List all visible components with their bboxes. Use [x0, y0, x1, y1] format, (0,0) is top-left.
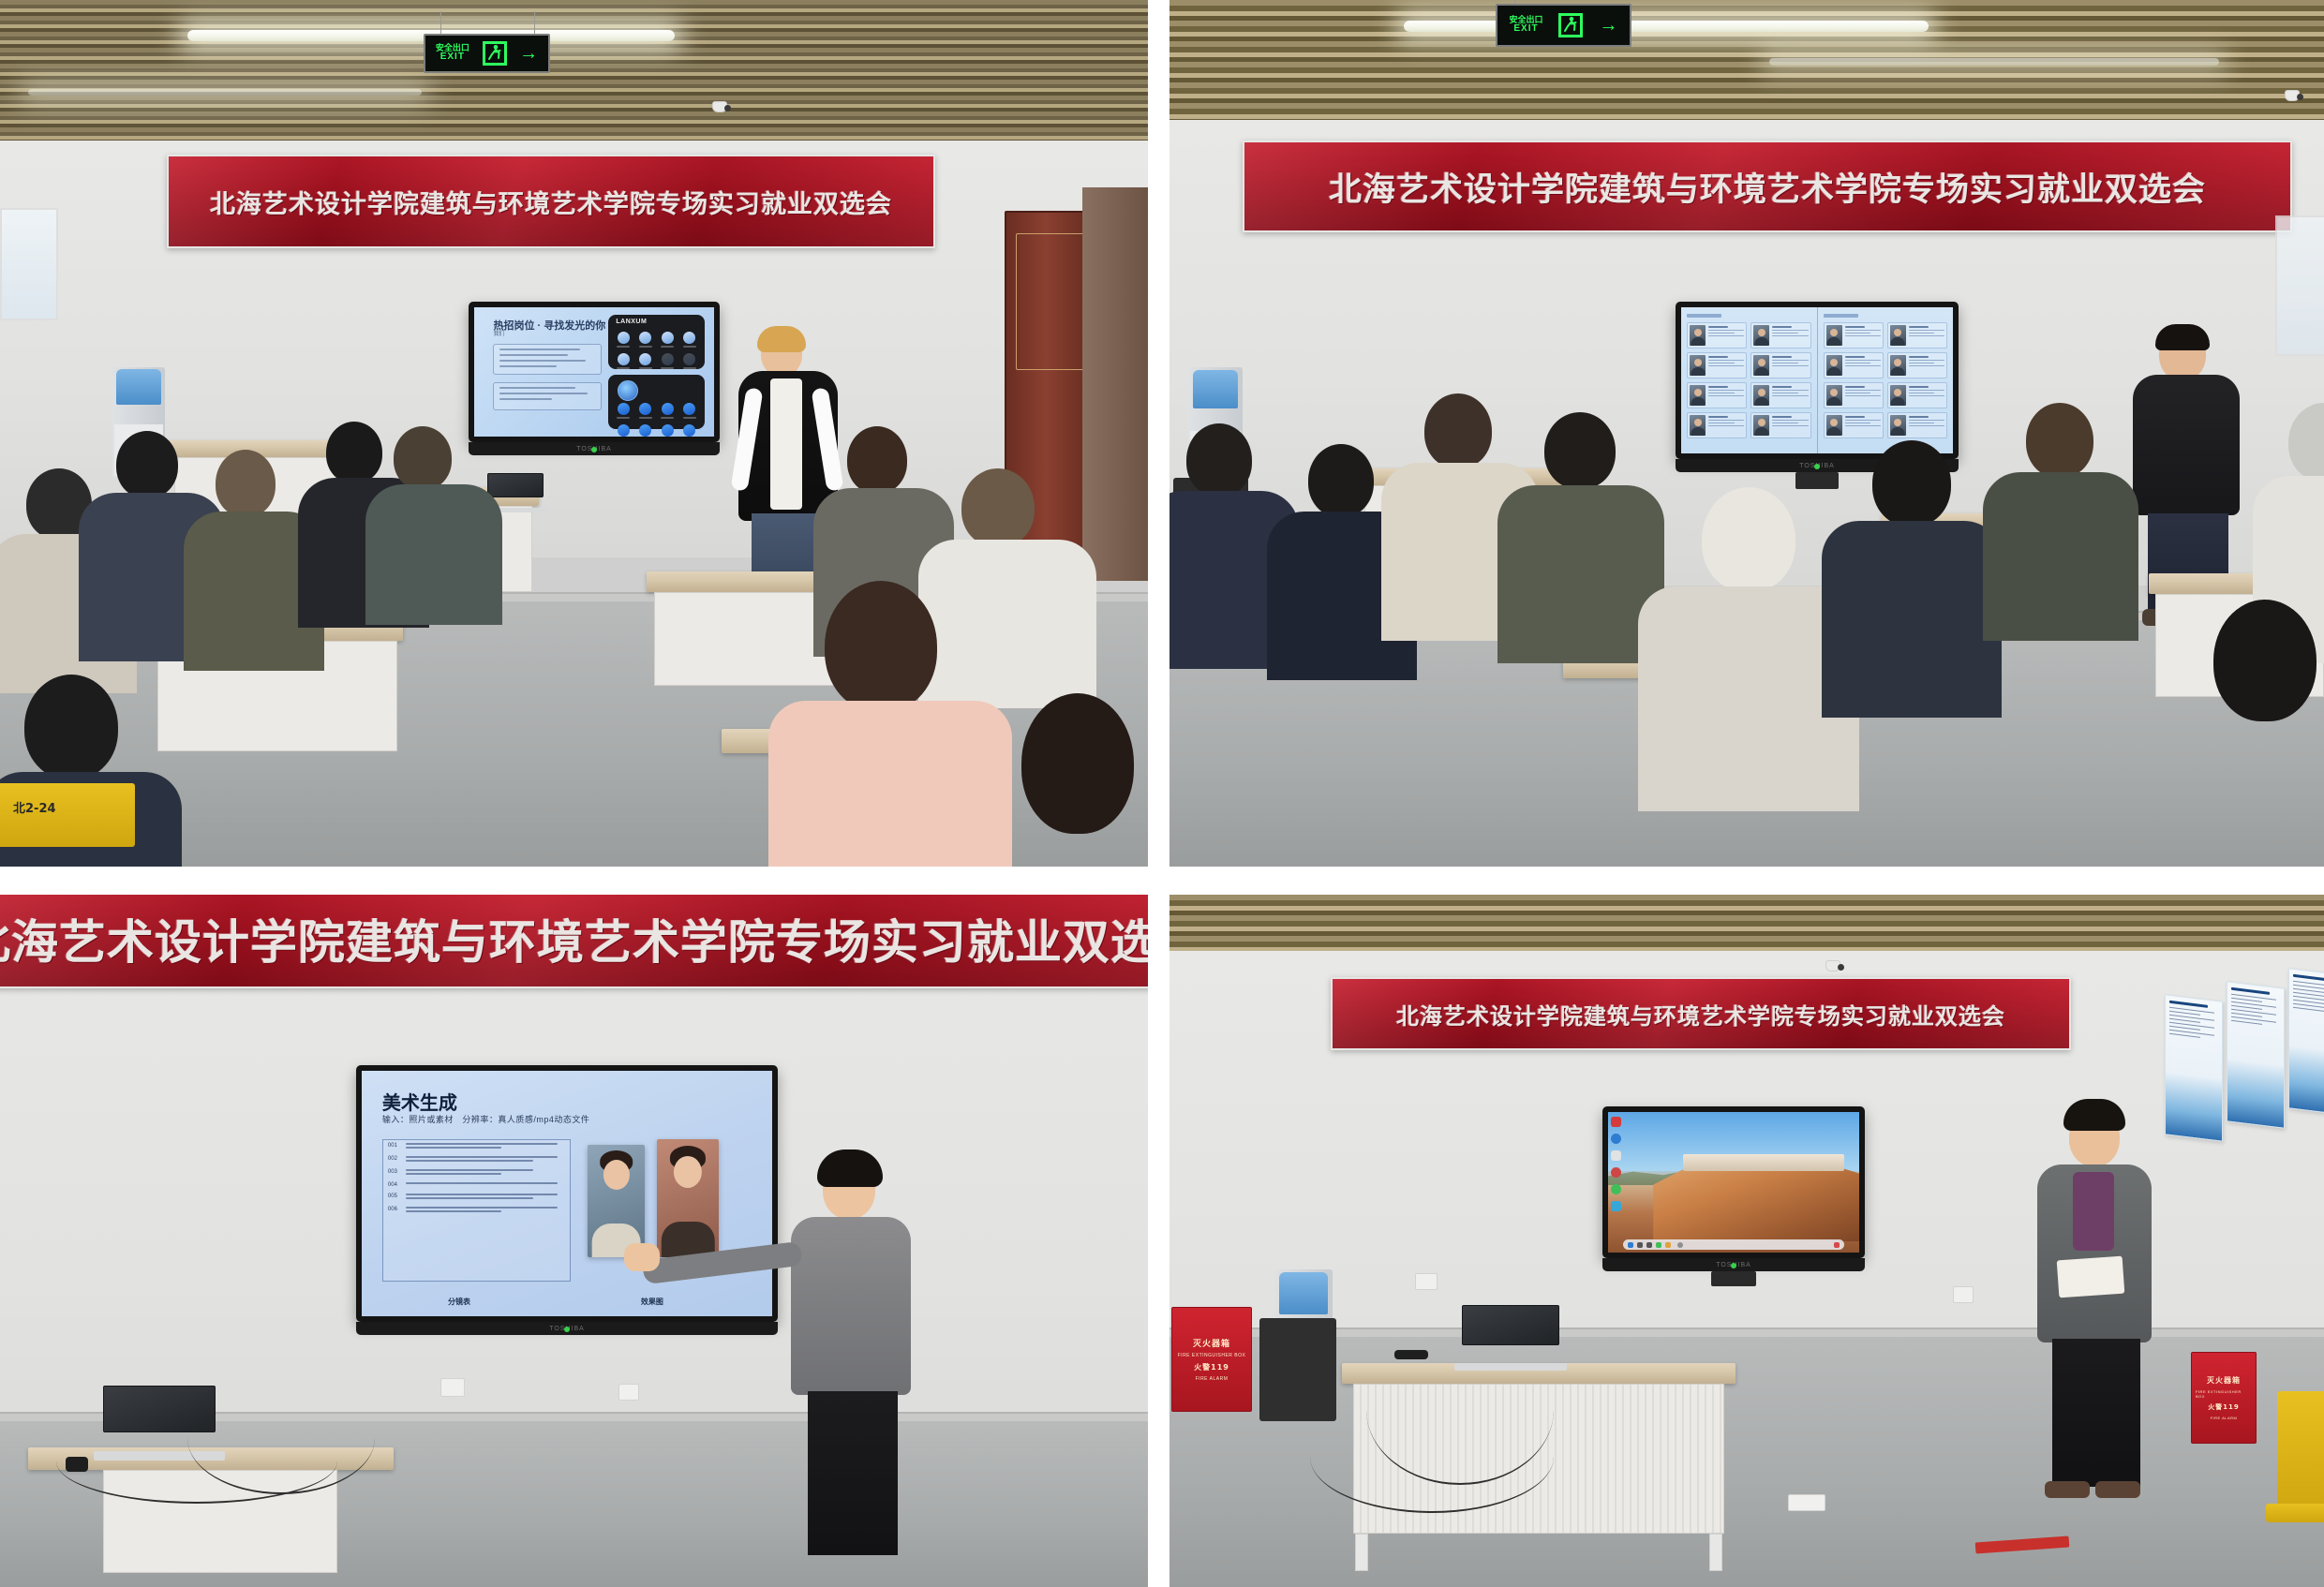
fire-alarm-label: 火警119	[2208, 1402, 2240, 1412]
app-panel-top: LANXUM	[608, 315, 704, 369]
ceiling-slats	[0, 0, 1148, 141]
desktop-icons	[1611, 1117, 1628, 1211]
cable	[187, 1382, 375, 1494]
power-led-icon	[1814, 464, 1820, 469]
table-row: 006	[383, 1204, 570, 1217]
wall-plaque	[2165, 994, 2223, 1142]
app-icon[interactable]	[636, 403, 655, 419]
profile-card[interactable]	[1887, 412, 1947, 438]
fire-alarm-en-label: FIRE ALARM	[2211, 1416, 2238, 1420]
banner-text: 北海艺术设计学院建筑与环境艺术学院专场实习就业双选会	[210, 184, 892, 220]
app-icon[interactable]	[680, 424, 699, 437]
profile-column-right	[1817, 307, 1954, 453]
display-screen[interactable]: 美术生成 输入：照片或素材 分辨率：真人质感/mp4动态文件 001 002 0…	[356, 1065, 778, 1322]
profile-card[interactable]	[1824, 412, 1884, 438]
row-index: 001	[388, 1143, 401, 1150]
power-strip[interactable]	[1788, 1494, 1825, 1511]
taskbar[interactable]	[1623, 1239, 1844, 1250]
presenter-trousers	[808, 1391, 898, 1555]
panel-top-right: 安全出口 EXIT → 北海艺术设计学院建筑与环境艺术学院专场实习就业双选会	[1169, 0, 2324, 867]
window	[2275, 215, 2324, 356]
presenter-hair	[2063, 1099, 2125, 1131]
window	[0, 208, 58, 320]
presenter-blazer	[791, 1217, 911, 1395]
chair-mark-label: 北2-24	[13, 798, 56, 816]
audience-member	[1835, 440, 1985, 703]
audience-member	[1509, 412, 1649, 646]
security-camera-icon	[2285, 90, 2300, 101]
ceiling-light-2	[1769, 58, 2219, 66]
profile-card[interactable]	[1824, 382, 1884, 408]
held-papers[interactable]	[2057, 1256, 2125, 1298]
row-index: 006	[388, 1207, 401, 1214]
panel-top-left: 安全出口 EXIT → 北海艺术设计学院建筑与环境艺术学院专场实习就业双选会	[0, 0, 1148, 867]
fire-box-subtitle: FIRE EXTINGUISHER BOX	[1178, 1353, 1246, 1358]
presenter-hair	[817, 1149, 883, 1187]
display-screen[interactable]: 热招岗位 · 寻找发光的你 我们	[469, 302, 720, 442]
app-icon[interactable]	[659, 403, 678, 419]
banner-text: 北海艺术设计学院建筑与环境艺术学院专场实习就业双选会	[0, 905, 1148, 972]
fire-box-title: 灭火器箱	[1193, 1337, 1230, 1349]
wall-socket[interactable]	[1415, 1273, 1438, 1290]
slide-title: 热招岗位 · 寻找发光的你	[493, 318, 605, 333]
fire-box-subtitle: FIRE EXTINGUISHER BOX	[2196, 1389, 2252, 1399]
fire-box-title: 灭火器箱	[2207, 1375, 2241, 1386]
avatar	[618, 380, 638, 401]
profile-card[interactable]	[1824, 322, 1884, 349]
app-icon[interactable]	[1665, 1242, 1671, 1248]
ceiling-light-2	[28, 89, 422, 96]
table-row: 001	[383, 1140, 570, 1153]
app-icon[interactable]	[636, 353, 655, 369]
exit-arrow-icon: →	[1599, 16, 1617, 35]
event-banner: 北海艺术设计学院建筑与环境艺术学院专场实习就业双选会	[1331, 977, 2071, 1050]
profile-card[interactable]	[1750, 412, 1810, 438]
profile-card[interactable]	[1687, 412, 1747, 438]
profile-card[interactable]	[1887, 382, 1947, 408]
audience-member	[1169, 423, 1282, 658]
running-man-icon	[483, 41, 507, 66]
laptop-screen	[487, 473, 544, 497]
water-bottle	[1193, 370, 1239, 409]
ceiling-light	[1404, 21, 1929, 32]
app-icon[interactable]	[1656, 1242, 1661, 1248]
app-icon[interactable]	[614, 403, 633, 419]
app-icon[interactable]	[659, 332, 678, 348]
profile-card[interactable]	[1750, 382, 1810, 408]
profile-card[interactable]	[1887, 322, 1947, 349]
profile-card[interactable]	[1824, 352, 1884, 378]
brand-logo: LANXUM	[616, 319, 647, 325]
desk-leg	[1709, 1534, 1722, 1571]
presenter-shirt	[2073, 1172, 2114, 1251]
profile-card[interactable]	[1687, 322, 1747, 349]
presenter-shoe	[2045, 1481, 2090, 1498]
audience-member	[778, 581, 993, 867]
photo-collage: 安全出口 EXIT → 北海艺术设计学院建筑与环境艺术学院专场实习就业双选会	[0, 0, 2324, 1587]
slide-profile-grid	[1681, 307, 1953, 453]
display-screen[interactable]: TOSHIBA	[1676, 302, 1959, 459]
exit-sign: 安全出口 EXIT →	[1496, 4, 1631, 47]
yellow-chair[interactable]	[2277, 1391, 2324, 1513]
event-banner: 北海艺术设计学院建筑与环境艺术学院专场实习就业双选会	[167, 155, 935, 248]
screen-surface: 美术生成 输入：照片或素材 分辨率：真人质感/mp4动态文件 001 002 0…	[362, 1071, 772, 1316]
portrait-image-2	[657, 1139, 719, 1257]
presenter-shirt	[770, 378, 802, 510]
presenter	[774, 1146, 924, 1558]
fire-equipment-box: 灭火器箱 FIRE EXTINGUISHER BOX 火警119 FIRE AL…	[1171, 1307, 1252, 1412]
audience-member	[2191, 600, 2324, 867]
banner-text: 北海艺术设计学院建筑与环境艺术学院专场实习就业双选会	[1329, 163, 2206, 211]
slide-recruitment: 热招岗位 · 寻找发光的你 我们	[474, 307, 714, 437]
water-bottle	[116, 369, 160, 405]
tool-icon[interactable]	[1646, 1242, 1652, 1248]
screen-surface	[1608, 1112, 1859, 1253]
app-icon[interactable]	[614, 332, 633, 348]
app-icon[interactable]	[659, 353, 678, 369]
presenter-trousers	[2052, 1339, 2140, 1487]
windows-desktop	[1608, 1112, 1859, 1253]
row-index: 003	[388, 1169, 401, 1177]
table-row: 005	[383, 1191, 570, 1204]
presenter-hair	[2155, 324, 2210, 350]
profile-card[interactable]	[1887, 352, 1947, 378]
table-caption: 分镜表	[448, 1297, 470, 1307]
gear-icon[interactable]	[1677, 1242, 1683, 1248]
cable	[1366, 1335, 1554, 1485]
presenter-jacket	[2133, 375, 2240, 515]
ceiling-slats	[1169, 895, 2324, 951]
slide-subtitle: 输入：照片或素材 分辨率：真人质感/mp4动态文件	[382, 1113, 590, 1125]
exit-sign-hanger-2	[534, 11, 535, 36]
app-icon[interactable]	[1611, 1184, 1621, 1194]
power-led-icon	[1731, 1263, 1736, 1268]
wallpaper-town	[1683, 1154, 1844, 1171]
folder-icon[interactable]	[1611, 1150, 1621, 1161]
audience-member	[375, 426, 487, 614]
wall-socket[interactable]	[1953, 1286, 1974, 1303]
screen-surface	[1681, 307, 1953, 453]
desk-leg	[1355, 1534, 1368, 1571]
security-camera-icon	[1825, 960, 1840, 971]
profile-card[interactable]	[1687, 352, 1747, 378]
panel-bottom-right: 北海艺术设计学院建筑与环境艺术学院专场实习就业双选会	[1169, 895, 2324, 1587]
app-icon[interactable]	[1611, 1117, 1621, 1127]
app-icon[interactable]	[1611, 1167, 1621, 1178]
tv-stand	[1711, 1271, 1756, 1286]
app-icon[interactable]	[659, 424, 678, 437]
exit-sign: 安全出口 EXIT →	[424, 34, 550, 73]
water-bottle	[1279, 1272, 1328, 1314]
screen-surface: 热招岗位 · 寻找发光的你 我们	[474, 307, 714, 437]
app-icon[interactable]	[680, 353, 699, 369]
power-led-icon	[564, 1327, 570, 1332]
exit-arrow-icon: →	[519, 44, 538, 63]
slide-art-generation: 美术生成 输入：照片或素材 分辨率：真人质感/mp4动态文件 001 002 0…	[362, 1071, 772, 1316]
wall-socket[interactable]	[440, 1378, 465, 1397]
profile-card[interactable]	[1750, 352, 1810, 378]
yellow-chair-seat[interactable]	[2266, 1504, 2324, 1522]
image-caption: 效果图	[641, 1297, 663, 1307]
app-icon[interactable]	[680, 332, 699, 348]
slide-subtitle: 我们	[493, 329, 504, 337]
storyboard-table: 001 002 003 004 005 006	[382, 1139, 571, 1282]
event-banner: 北海艺术设计学院建筑与环境艺术学院专场实习就业双选会	[1243, 141, 2292, 232]
audience-member	[1657, 487, 1835, 796]
presenter	[2024, 1099, 2165, 1511]
audience-member	[1003, 693, 1148, 867]
presenter-shoe	[2095, 1481, 2140, 1498]
wall-plaque	[2288, 968, 2324, 1116]
fire-equipment-box: 灭火器箱 FIRE EXTINGUISHER BOX 火警119 FIRE AL…	[2191, 1352, 2257, 1444]
table-row: 004	[383, 1179, 570, 1191]
app-icon[interactable]	[614, 424, 633, 437]
exit-sign-hanger	[440, 11, 441, 36]
exit-sign-en-label: EXIT	[1513, 24, 1538, 35]
audience-member	[197, 450, 309, 656]
back-icon[interactable]	[1637, 1242, 1643, 1248]
speaker-box	[1259, 1318, 1336, 1421]
slide-text-card-2	[493, 382, 601, 410]
app-icon[interactable]	[680, 403, 699, 419]
slide-text-card-1	[493, 344, 601, 375]
row-index: 004	[388, 1182, 401, 1188]
door-frame	[1082, 187, 1148, 581]
running-man-icon	[1558, 13, 1583, 37]
table-row: 003	[383, 1166, 570, 1179]
app-icon[interactable]	[614, 353, 633, 369]
banner-text: 北海艺术设计学院建筑与环境艺术学院专场实习就业双选会	[1396, 998, 2005, 1031]
wall-plaque	[2227, 981, 2285, 1129]
panel-bottom-left: 北海艺术设计学院建筑与环境艺术学院专场实习就业双选会 美术生成 输入：照片或素材…	[0, 895, 1148, 1587]
app-panel-bottom	[608, 375, 704, 429]
slide-title: 美术生成	[382, 1088, 457, 1115]
notification-icon[interactable]	[1834, 1242, 1840, 1248]
exit-sign-en-label: EXIT	[440, 52, 465, 63]
profile-column-left	[1681, 307, 1817, 453]
app-icon[interactable]	[1611, 1201, 1621, 1211]
app-icon[interactable]	[636, 424, 655, 437]
event-banner: 北海艺术设计学院建筑与环境艺术学院专场实习就业双选会	[0, 895, 1148, 988]
portrait-image-1	[588, 1145, 645, 1258]
row-index: 005	[388, 1194, 401, 1201]
security-camera-icon	[712, 101, 727, 112]
audience-member	[1994, 403, 2125, 628]
row-index: 002	[388, 1156, 401, 1164]
start-icon[interactable]	[1628, 1242, 1633, 1248]
profile-card[interactable]	[1750, 322, 1810, 349]
display-screen[interactable]: TOSHIBA	[1602, 1106, 1865, 1258]
table-row: 002	[383, 1153, 570, 1166]
wall-socket[interactable]	[618, 1384, 639, 1401]
app-icon[interactable]	[636, 332, 655, 348]
power-led-icon	[591, 447, 597, 452]
browser-icon[interactable]	[1611, 1134, 1621, 1144]
fire-alarm-label: 火警119	[1194, 1362, 1229, 1372]
presenter-hair	[757, 326, 806, 352]
profile-card[interactable]	[1687, 382, 1747, 408]
presenter-hand	[624, 1243, 660, 1271]
fire-alarm-en-label: FIRE ALARM	[1196, 1376, 1229, 1382]
